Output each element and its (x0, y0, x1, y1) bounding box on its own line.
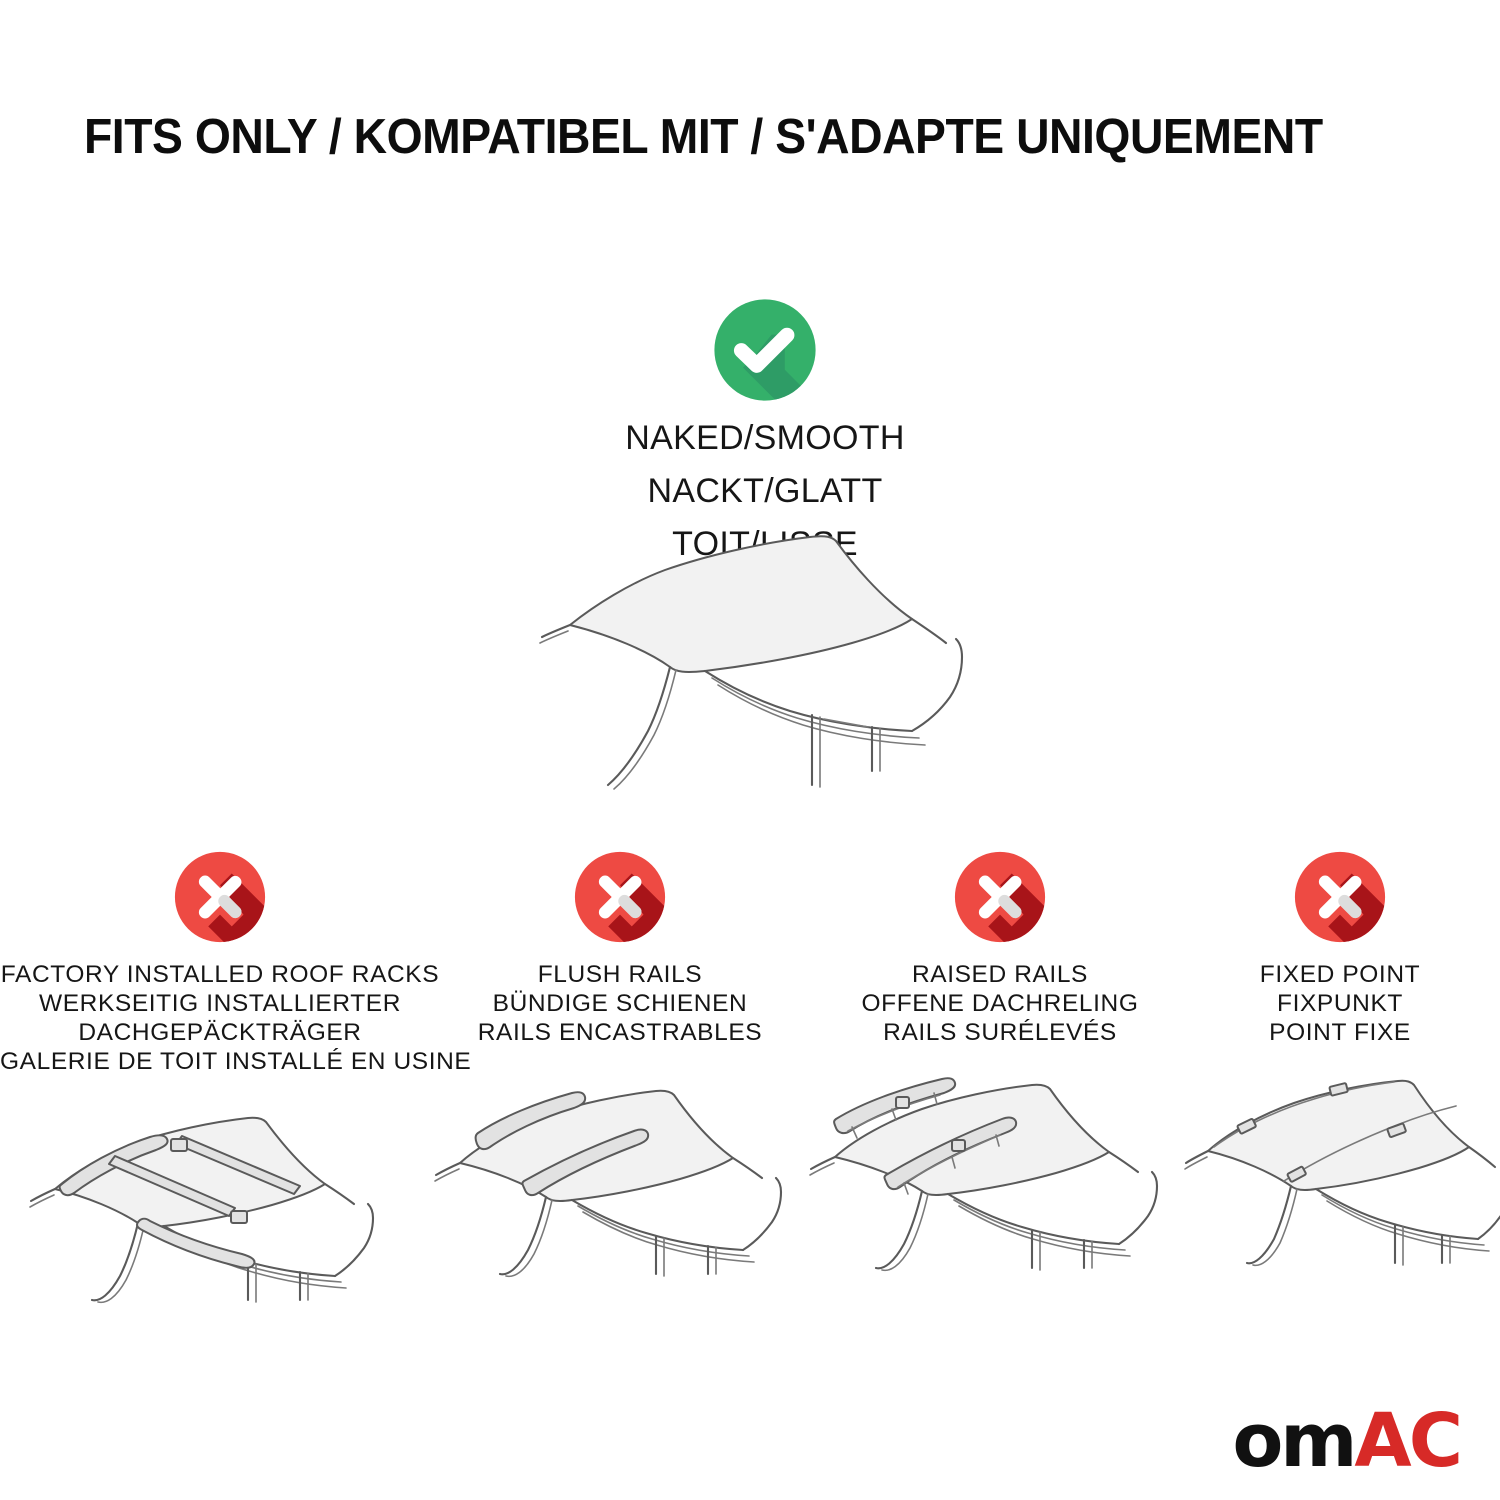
incompatible-label-0-en: FACTORY INSTALLED ROOF RACKS (0, 960, 440, 989)
incompatible-label-3-en: FIXED POINT (1180, 960, 1500, 989)
incompatible-column-flush-rails: FLUSH RAILS BÜNDIGE SCHIENEN RAILS ENCAS… (420, 848, 820, 1285)
logo-text-ac: AC (1354, 1398, 1460, 1484)
incompatible-label-3-de: FIXPUNKT (1180, 989, 1500, 1018)
car-roof-raised-rails-illustration (800, 1075, 1200, 1285)
compatible-label-en: NAKED/SMOOTH (545, 419, 985, 458)
logo-text-om: om (1232, 1398, 1354, 1484)
incompatible-column-fixed-point: FIXED POINT FIXPUNKT POINT FIXE (1180, 848, 1500, 1285)
incompatible-label-0-de1: WERKSEITIG INSTALLIERTER (0, 989, 440, 1018)
incompatible-label-1-fr: RAILS ENCASTRABLES (420, 1018, 820, 1047)
omac-logo: omAC (1232, 1404, 1460, 1478)
incompatible-column-raised-rails: RAISED RAILS OFFENE DACHRELING RAILS SUR… (800, 848, 1200, 1285)
car-roof-fixed-point-illustration (1180, 1075, 1500, 1285)
incompatible-label-3-fr: POINT FIXE (1180, 1018, 1500, 1047)
car-roof-naked-smooth-illustration (480, 515, 1040, 805)
incompatible-label-2-de: OFFENE DACHRELING (800, 989, 1200, 1018)
incompatible-label-2-en: RAISED RAILS (800, 960, 1200, 989)
incompatible-label-2-fr: RAILS SURÉLEVÉS (800, 1018, 1200, 1047)
fitment-chart-page: FITS ONLY / KOMPATIBEL MIT / S'ADAPTE UN… (0, 0, 1500, 1500)
cross-circle-icon (800, 848, 1200, 960)
check-circle-icon (545, 295, 985, 405)
incompatible-section: FACTORY INSTALLED ROOF RACKS WERKSEITIG … (0, 848, 1500, 1328)
incompatible-label-0-fr: GALERIE DE TOIT INSTALLÉ EN USINE (0, 1047, 440, 1076)
cross-circle-icon (420, 848, 820, 960)
car-roof-factory-rack-illustration (0, 1094, 440, 1304)
page-title: FITS ONLY / KOMPATIBEL MIT / S'ADAPTE UN… (84, 108, 1350, 166)
cross-circle-icon (0, 848, 440, 960)
cross-circle-icon (1180, 848, 1500, 960)
compatible-label-de: NACKT/GLATT (545, 472, 985, 511)
incompatible-label-1-en: FLUSH RAILS (420, 960, 820, 989)
incompatible-label-1-de: BÜNDIGE SCHIENEN (420, 989, 820, 1018)
incompatible-label-0-de2: DACHGEPÄCKTRÄGER (0, 1018, 440, 1047)
incompatible-column-factory-rack: FACTORY INSTALLED ROOF RACKS WERKSEITIG … (0, 848, 440, 1304)
car-roof-flush-rails-illustration (420, 1075, 820, 1285)
